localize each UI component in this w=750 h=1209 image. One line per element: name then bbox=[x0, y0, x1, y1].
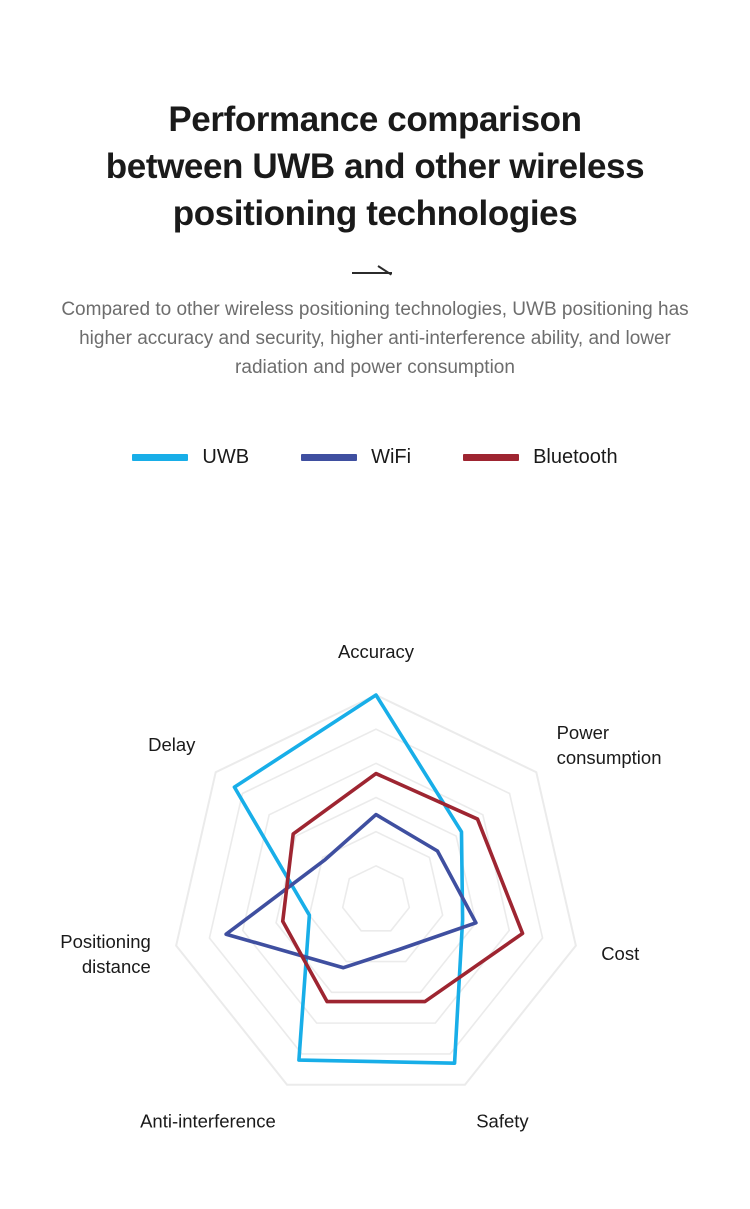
radar-grid bbox=[176, 695, 576, 1085]
legend-swatch-wifi bbox=[301, 454, 357, 461]
radar-series-group bbox=[226, 695, 522, 1063]
page-title: Performance comparison between UWB and o… bbox=[35, 96, 715, 237]
radar-grid-ring-6 bbox=[176, 695, 576, 1085]
chart-legend: UWB WiFi Bluetooth bbox=[0, 446, 750, 469]
legend-item-bluetooth[interactable]: Bluetooth bbox=[463, 446, 618, 469]
legend-swatch-bluetooth bbox=[463, 454, 519, 461]
radar-chart-svg: AccuracyPowerconsumptionCostSafetyAnti-i… bbox=[0, 600, 750, 1209]
page-title-line-3: positioning technologies bbox=[173, 194, 578, 233]
radar-axis-label-safety: Safety bbox=[476, 1110, 529, 1131]
radar-axis-labels: AccuracyPowerconsumptionCostSafetyAnti-i… bbox=[60, 641, 661, 1132]
radar-axis-label-power-consumption: Powerconsumption bbox=[557, 722, 662, 768]
radar-chart: AccuracyPowerconsumptionCostSafetyAnti-i… bbox=[0, 600, 750, 1209]
legend-item-wifi[interactable]: WiFi bbox=[301, 446, 411, 469]
radar-grid-ring-1 bbox=[343, 866, 410, 931]
header: Performance comparison between UWB and o… bbox=[0, 0, 750, 382]
page-title-line-2: between UWB and other wireless bbox=[106, 147, 644, 186]
radar-axis-label-anti-interference: Anti-interference bbox=[140, 1110, 276, 1131]
radar-grid-ring-5 bbox=[209, 729, 542, 1054]
legend-label-wifi: WiFi bbox=[371, 446, 411, 469]
legend-swatch-uwb bbox=[132, 454, 188, 461]
radar-axis-label-accuracy: Accuracy bbox=[338, 641, 415, 662]
page-root: Performance comparison between UWB and o… bbox=[0, 0, 750, 1209]
legend-label-uwb: UWB bbox=[202, 446, 249, 469]
legend-item-uwb[interactable]: UWB bbox=[132, 446, 249, 469]
radar-axis-label-delay: Delay bbox=[148, 734, 196, 755]
arrow-divider-icon bbox=[352, 263, 398, 277]
radar-axis-label-positioning-distance: Positioningdistance bbox=[60, 931, 151, 977]
page-title-line-1: Performance comparison bbox=[168, 100, 581, 139]
page-subtitle: Compared to other wireless positioning t… bbox=[60, 295, 690, 382]
radar-axis-label-cost: Cost bbox=[601, 943, 639, 964]
radar-series-bluetooth[interactable] bbox=[283, 774, 523, 1002]
legend-label-bluetooth: Bluetooth bbox=[533, 446, 618, 469]
